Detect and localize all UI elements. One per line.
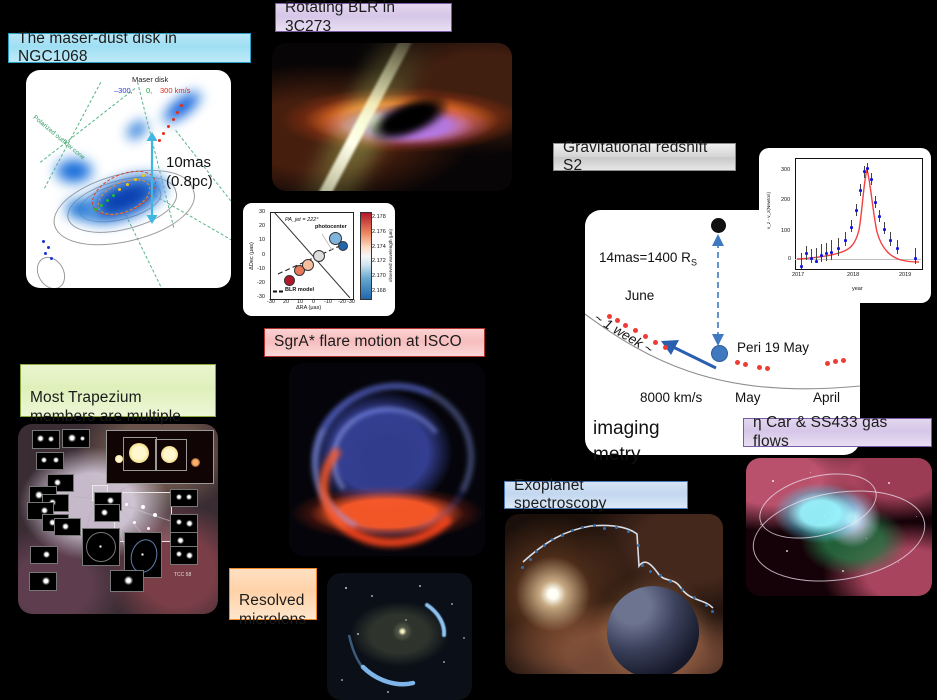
blr-xtick: -20 (338, 299, 346, 305)
s2plot-xtick: 2018 (847, 272, 859, 278)
orbit-cutout (82, 528, 120, 566)
scalebar-arrow-icon (144, 132, 160, 224)
binary-cutout (94, 504, 120, 522)
blr-xtick: -30 (347, 299, 355, 305)
epoch-point (825, 361, 830, 366)
s2plot-ytick: 100 (781, 228, 790, 234)
datapoint (896, 247, 899, 250)
blr-ytick: 10 (259, 237, 265, 243)
eta-car-ss433-image (746, 458, 932, 596)
blr-ytick: -10 (257, 266, 265, 272)
label-exoplanet-spectroscopy-text: Exoplanet spectroscopy (514, 477, 678, 514)
maser-legend-negative: –300, (114, 86, 133, 95)
blr-point (284, 275, 295, 286)
label-gravitational-redshift-text: Gravitational redshift S2 (563, 139, 726, 176)
s2-scale-annotation: 14mas=1400 RS (599, 250, 697, 268)
month-june-label: June (625, 288, 654, 303)
datapoint (914, 257, 917, 260)
scale-pc-value: (0.8pc) (166, 172, 213, 191)
s2plot-ytick: 300 (781, 167, 790, 173)
blr-point (302, 259, 314, 271)
binary-cutout (30, 546, 58, 564)
s2plot-xaxis-label: year (852, 286, 863, 292)
datapoint (830, 251, 833, 254)
s2-scale-text: 14mas=1400 R (599, 250, 691, 265)
datapoint (800, 265, 803, 268)
epoch-point (743, 362, 748, 367)
binary-cutout (62, 429, 90, 448)
blr-xtick: -30 (267, 299, 275, 305)
ngc1068-scale-label: 10mas (0.8pc) (166, 153, 213, 191)
label-rotating-blr[interactable]: Rotating BLR in 3C273 (275, 3, 452, 32)
microlens-arcs (327, 573, 472, 700)
datapoint (874, 201, 877, 204)
datapoint (820, 254, 823, 257)
errorbar (831, 240, 832, 260)
cbar-tick: 2.176 (372, 229, 386, 235)
s2-scale-subscript: S (691, 258, 697, 268)
trapezium-mosaic-image: TCC 58 (18, 424, 218, 614)
maser-disk-legend-title: Maser disk (132, 75, 168, 84)
datapoint (844, 239, 847, 242)
blr-xtick: 20 (283, 299, 289, 305)
label-eta-car-ss433-text: η Car & SS433 gas flows (753, 414, 922, 451)
blr-ytick: 30 (259, 209, 265, 215)
trapezium-inset (106, 430, 214, 484)
datapoint (825, 252, 828, 255)
occluded-metry-text: metry (593, 444, 641, 466)
label-exoplanet-spectroscopy[interactable]: Exoplanet spectroscopy (504, 481, 688, 509)
blr-ytick: -20 (257, 280, 265, 286)
tcc58-caption: TCC 58 (174, 572, 191, 578)
slide-canvas: Maser disk –300, 0, 300 km/s Polarized o… (0, 0, 937, 700)
maser-legend-zero: 0, (146, 86, 152, 95)
epoch-point (757, 365, 762, 370)
s2plot-ytick: 0 (788, 256, 791, 262)
black-hole-marker (711, 218, 726, 233)
velocity-label: 8000 km/s (640, 390, 702, 405)
errorbar (811, 249, 812, 263)
binary-cutout (170, 514, 198, 533)
blr-xtick: 0 (312, 299, 315, 305)
blr-model-legend: BLR model (285, 287, 314, 293)
datapoint (855, 209, 858, 212)
month-may-label: May (735, 390, 761, 405)
blr-photocenter-plot: PA_jet = 222° photocenter BLR model ΔRA … (243, 203, 395, 316)
scale-mas-value: 10mas (166, 153, 213, 172)
binary-cutout (36, 452, 64, 470)
cbar-tick: 2.168 (372, 288, 386, 294)
photocenter-annotation: photocenter (315, 224, 347, 230)
label-gravitational-redshift[interactable]: Gravitational redshift S2 (553, 143, 736, 171)
epoch-point (833, 359, 838, 364)
label-sgra-flare-text: SgrA* flare motion at ISCO (274, 333, 462, 351)
datapoint (805, 252, 808, 255)
binary-cutout (54, 518, 81, 536)
datapoint (878, 215, 881, 218)
cbar-tick: 2.178 (372, 214, 386, 220)
label-maser-dust-disk-text: The maser-dust disk in NGC1068 (18, 30, 241, 67)
cbar-tick: 2.174 (372, 244, 386, 250)
blr-point (338, 241, 348, 251)
transmission-spectrum-curve (505, 514, 723, 674)
month-april-label: April (813, 390, 840, 405)
epoch-point (765, 366, 770, 371)
s2plot-xtick: 2017 (792, 272, 804, 278)
label-trapezium[interactable]: Most Trapezium members are multiple (20, 364, 216, 417)
cbar-tick: 2.172 (372, 258, 386, 264)
datapoint (815, 260, 818, 263)
epoch-point (663, 345, 668, 350)
blr-xaxis-label: ΔRA (μas) (296, 305, 321, 311)
cbar-tick: 2.170 (372, 273, 386, 279)
blr-ytick: -30 (257, 294, 265, 300)
datapoint (883, 228, 886, 231)
occluded-imaging-text: imaging (593, 418, 660, 440)
binary-cutout (170, 546, 198, 565)
datapoint (850, 226, 853, 229)
maser-legend-positive: 300 km/s (160, 86, 190, 95)
s2plot-xtick: 2019 (899, 272, 911, 278)
errorbar (915, 248, 916, 264)
s2plot-yaxis-label: v_z - v_z(Newton) (766, 192, 771, 229)
binary-cutout (32, 430, 60, 449)
datapoint (810, 257, 813, 260)
label-resolved-microlens-text: Resolved microlens (239, 592, 306, 627)
blr-xtick: 10 (297, 299, 303, 305)
rotating-blr-3c273-image (272, 43, 512, 191)
binary-cutout (170, 489, 198, 507)
label-eta-car-ss433[interactable]: η Car & SS433 gas flows (743, 418, 932, 447)
label-trapezium-text: Most Trapezium members are multiple (30, 389, 181, 424)
exoplanet-spectroscopy-image (505, 514, 723, 674)
binary-cutout (29, 572, 57, 591)
datapoint (863, 170, 866, 173)
blr-colorbar-label: observed wavelength (μm) (388, 229, 393, 282)
resolved-microlens-image (327, 573, 472, 700)
blr-xtick: -10 (324, 299, 332, 305)
label-rotating-blr-text: Rotating BLR in 3C273 (285, 0, 442, 36)
s2-redshift-plot: 300 200 100 0 2017 2018 2019 year v_z - … (759, 148, 931, 303)
blr-point (313, 250, 325, 262)
errorbar (821, 244, 822, 262)
s2plot-ytick: 200 (781, 197, 790, 203)
datapoint (889, 239, 892, 242)
datapoint (859, 189, 862, 192)
label-maser-dust-disk[interactable]: The maser-dust disk in NGC1068 (8, 33, 251, 63)
blr-yaxis-label: ΔDec (μas) (249, 242, 255, 270)
blr-colorbar (360, 212, 372, 300)
pa-jet-annotation: PA_jet = 222° (285, 217, 318, 223)
binary-cutout (110, 570, 144, 592)
datapoint (837, 247, 840, 250)
datapoint (866, 167, 869, 170)
epoch-point (735, 360, 740, 365)
polarized-outflow-cone-label: Polarized outflow cone (32, 114, 87, 161)
label-sgra-flare[interactable]: SgrA* flare motion at ISCO (264, 328, 485, 357)
epoch-point (841, 358, 846, 363)
perihelion-marker (711, 345, 728, 362)
blr-ytick: 0 (262, 252, 265, 258)
label-resolved-microlens[interactable]: Resolved microlens (229, 568, 317, 620)
blr-ytick: 20 (259, 223, 265, 229)
datapoint (870, 178, 873, 181)
sgra-flare-image (289, 363, 485, 556)
perihelion-label: Peri 19 May (737, 340, 809, 355)
s2-model-curve (795, 158, 921, 268)
